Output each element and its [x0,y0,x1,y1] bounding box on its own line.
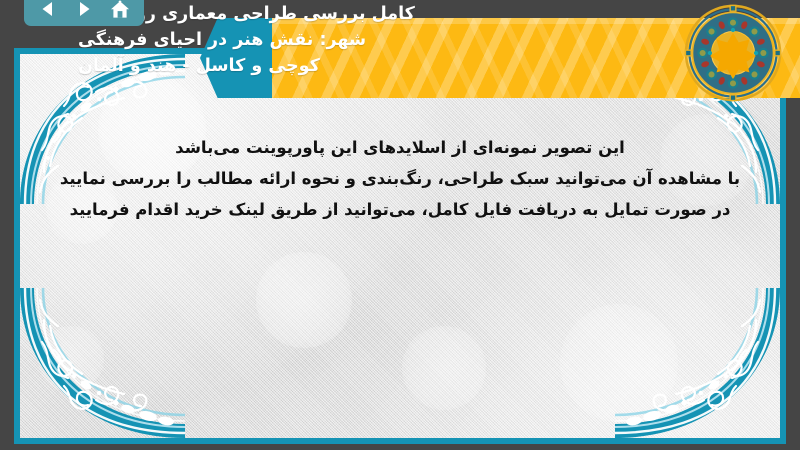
banner-teal-chevron [200,18,280,98]
ornament-medallion-icon [684,4,782,102]
slide-body-text: این تصویر نمونه‌ای از اسلایدهای این پاور… [20,132,780,225]
triangle-left-icon [39,0,57,18]
body-line-3: در صورت تمایل به دریافت فایل کامل، می‌تو… [56,194,744,225]
bokeh-circle [560,304,678,422]
home-icon [110,0,130,19]
slide-content-area: این تصویر نمونه‌ای از اسلایدهای این پاور… [20,54,780,438]
slide-viewer: کامل بررسی طراحی معماری روایت دو شهر: نق… [0,0,800,450]
bokeh-circle [402,326,486,410]
home-button[interactable] [105,0,135,22]
bokeh-circle [256,252,352,348]
corner-ornament-bottom-left [20,288,185,438]
corner-ornament-bottom-right [615,288,780,438]
slide-card: این تصویر نمونه‌ای از اسلایدهای این پاور… [14,48,786,444]
navigation-bar [24,0,144,26]
next-slide-button[interactable] [69,0,99,22]
triangle-right-icon [75,0,93,18]
body-line-1: این تصویر نمونه‌ای از اسلایدهای این پاور… [56,132,744,163]
previous-slide-button[interactable] [33,0,63,22]
body-line-2: با مشاهده آن می‌توانید سبک طراحی، رنگ‌بن… [56,163,744,194]
bokeh-circle [38,326,104,392]
